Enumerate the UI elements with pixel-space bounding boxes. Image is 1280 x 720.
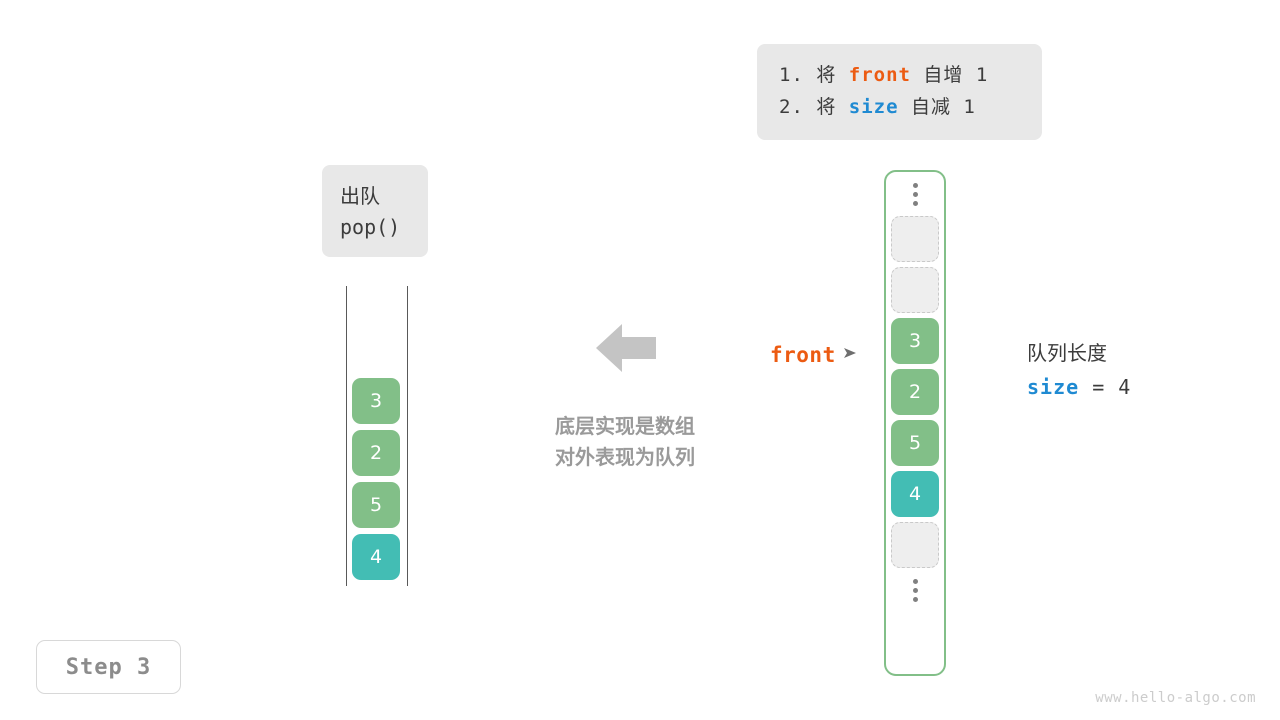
op-line-1-suffix: 自增 1 [911,64,988,86]
size-annotation: 队列长度 size = 4 [1027,340,1131,399]
queue-rail-right [407,286,408,586]
middle-caption: 底层实现是数组 对外表现为队列 [505,412,745,474]
size-variable-name: size [1027,375,1079,399]
array-empty-slot [891,522,939,568]
size-annotation-value: size = 4 [1027,375,1131,399]
operation-note-line-1: 1. 将 front 自增 1 [779,63,1020,89]
array-empty-slot [891,267,939,313]
op-line-2-keyword: size [849,96,899,118]
pop-title: 出队 [340,183,410,209]
pop-method: pop() [340,214,410,240]
operation-note-line-2: 2. 将 size 自减 1 [779,95,1020,121]
size-annotation-title: 队列长度 [1027,340,1131,368]
array-cell: 2 [891,369,939,415]
op-line-2-suffix: 自减 1 [899,96,976,118]
queue-cell: 2 [352,430,400,476]
size-equals-sign: = [1079,375,1118,399]
step-badge: Step 3 [36,640,181,694]
middle-caption-line-2: 对外表现为队列 [505,443,745,474]
pop-operation-label: 出队 pop() [322,165,428,257]
size-number: 4 [1118,375,1131,399]
left-arrow-icon [596,323,656,373]
array-empty-slot [891,216,939,262]
array-cell: 4 [891,471,939,517]
logical-queue-column: 3254 [346,286,408,586]
array-top-ellipsis-icon [886,172,944,216]
front-pointer-label: front [770,343,836,367]
op-line-1-prefix: 1. 将 [779,64,849,86]
operation-note: 1. 将 front 自增 1 2. 将 size 自减 1 [757,44,1042,140]
op-line-2-prefix: 2. 将 [779,96,849,118]
middle-caption-line-1: 底层实现是数组 [505,412,745,443]
queue-rail-left [346,286,347,586]
array-bottom-ellipsis-icon [886,568,944,612]
illustration-canvas: 1. 将 front 自增 1 2. 将 size 自减 1 出队 pop() … [0,0,1280,720]
array-cell: 3 [891,318,939,364]
logical-queue-cells: 3254 [352,378,400,580]
watermark: www.hello-algo.com [1095,690,1256,706]
queue-cell: 4 [352,534,400,580]
array-container: 3254 [884,170,946,676]
queue-cell: 5 [352,482,400,528]
front-arrow-icon [844,346,858,364]
op-line-1-keyword: front [849,64,911,86]
array-cell: 5 [891,420,939,466]
array-cells: 3254 [891,216,939,568]
queue-cell: 3 [352,378,400,424]
front-pointer: front [770,343,858,367]
